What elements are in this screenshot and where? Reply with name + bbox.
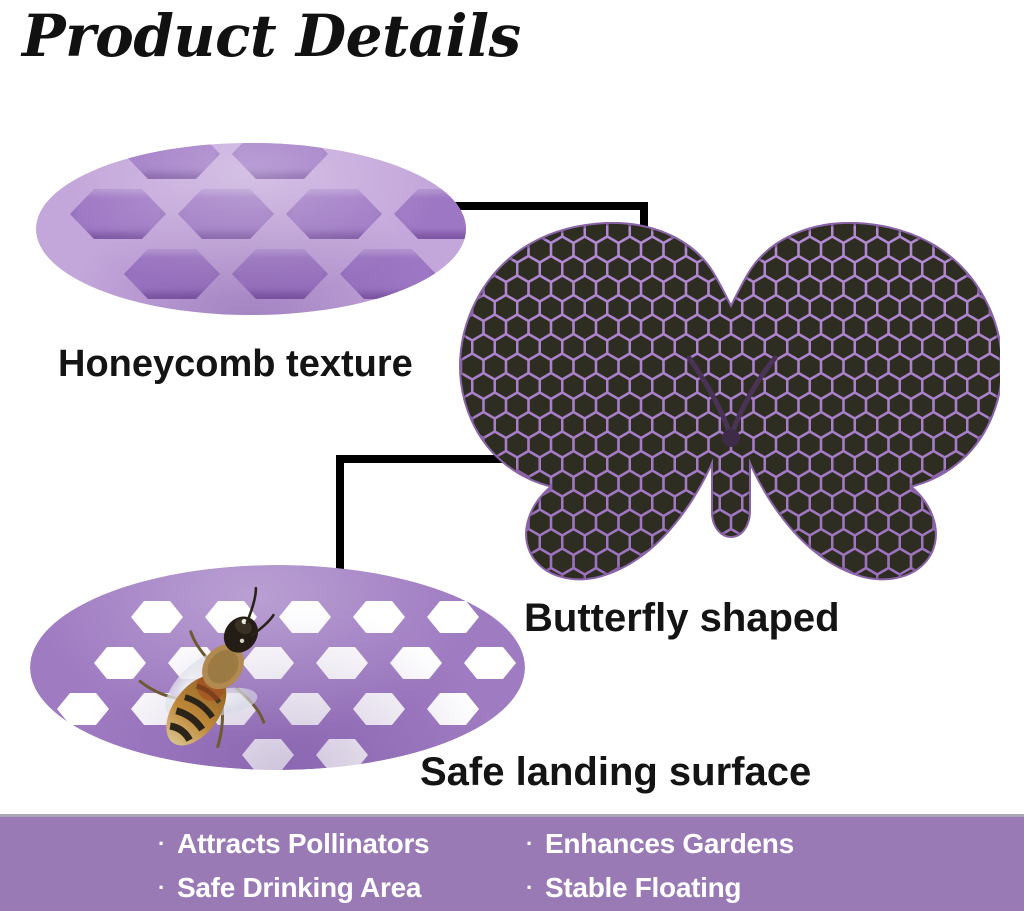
butterfly-perforation (732, 238, 752, 261)
butterfly-perforation (789, 570, 809, 585)
landing-surface-hole (57, 693, 109, 725)
landing-surface-hole (427, 693, 479, 725)
honeycomb-cell (232, 143, 328, 179)
butterfly-perforation (991, 531, 1000, 554)
bullet-icon: · (526, 877, 533, 899)
butterfly-perforation (699, 570, 719, 585)
benefits-banner: · Attracts Pollinators · Enhances Garden… (0, 814, 1024, 911)
butterfly-perforation (969, 492, 989, 515)
landing-surface-hole (279, 601, 331, 633)
butterfly-perforation (676, 531, 696, 554)
bullet-icon: · (158, 877, 165, 899)
butterfly-perforation (755, 550, 775, 573)
butterfly-perforation (721, 570, 741, 585)
butterfly-perforation (462, 238, 482, 261)
feature-label-safe-landing-surface: Safe landing surface (420, 750, 811, 795)
butterfly-perforation (676, 570, 696, 585)
butterfly-perforation (631, 570, 651, 585)
butterfly-perforation (455, 453, 471, 476)
butterfly-perforation (924, 222, 944, 242)
butterfly-perforation (455, 550, 460, 573)
butterfly-perforation (474, 222, 494, 242)
honeycomb-cell (232, 249, 328, 299)
butterfly-perforation (462, 472, 482, 495)
benefit-label: Attracts Pollinators (177, 822, 429, 866)
butterfly-perforation (455, 492, 471, 515)
page-title: Product Details (22, 2, 521, 70)
butterfly-perforation (755, 511, 775, 534)
benefit-item: · Attracts Pollinators (158, 822, 526, 866)
benefit-item: · Stable Floating (526, 866, 894, 910)
butterfly-perforation (946, 222, 966, 242)
butterfly-perforation (496, 222, 516, 242)
landing-surface-hole (390, 647, 442, 679)
benefit-item: · Safe Drinking Area (158, 866, 526, 910)
butterfly-perforation (946, 570, 966, 585)
butterfly-perforation (474, 570, 494, 585)
butterfly-perforation (732, 550, 752, 573)
honeycomb-cell (124, 249, 220, 299)
butterfly-perforation (710, 238, 730, 261)
butterfly-perforation (744, 222, 764, 242)
butterfly-perforation (969, 453, 989, 476)
butterfly-perforation (710, 550, 730, 573)
butterfly-perforation (957, 238, 977, 261)
honeycomb-cell (340, 249, 436, 299)
butterfly-perforation (485, 238, 505, 261)
butterfly-perforation (969, 222, 989, 242)
butterfly-perforation (519, 570, 539, 585)
butterfly-perforation (455, 355, 460, 378)
butterfly-perforation (455, 531, 471, 554)
elbow-connector-line-horizontal (455, 202, 648, 210)
butterfly-perforation (957, 472, 977, 495)
butterfly-perforation (462, 550, 482, 573)
feature-label-honeycomb-texture: Honeycomb texture (58, 343, 413, 386)
butterfly-perforation (744, 570, 764, 585)
landing-surface-hole (353, 601, 405, 633)
butterfly-perforation (957, 511, 977, 534)
butterfly-perforation (496, 492, 516, 515)
butterfly-perforation (462, 511, 482, 534)
butterfly-perforation (455, 511, 460, 534)
butterfly-perforation (455, 258, 471, 281)
landing-surface-hole (353, 693, 405, 725)
landing-surface-hole (427, 601, 479, 633)
butterfly-perforation (991, 222, 1000, 242)
butterfly-perforation (991, 453, 1000, 476)
butterfly-perforation (455, 316, 460, 339)
butterfly-perforation (455, 222, 471, 242)
butterfly-perforation (699, 222, 719, 242)
butterfly-perforation (455, 472, 460, 495)
butterfly-perforation (991, 258, 1000, 281)
butterfly-perforation (507, 511, 527, 534)
butterfly-perforation (811, 570, 831, 585)
benefit-label: Enhances Gardens (545, 822, 794, 866)
butterfly-pad-image (455, 222, 1000, 584)
butterfly-perforation (654, 570, 674, 585)
butterfly-perforation (474, 531, 494, 554)
butterfly-perforation (474, 492, 494, 515)
benefit-item: · Enhances Gardens (526, 822, 894, 866)
butterfly-perforation (935, 550, 955, 573)
butterfly-perforation (474, 453, 494, 476)
butterfly-perforation (485, 472, 505, 495)
butterfly-perforation (507, 550, 527, 573)
butterfly-perforation (665, 550, 685, 573)
butterfly-perforation (777, 550, 797, 573)
butterfly-perforation (969, 570, 989, 585)
landing-surface-hole (316, 739, 368, 770)
butterfly-perforation (485, 511, 505, 534)
butterfly-perforation (969, 531, 989, 554)
bullet-icon: · (526, 833, 533, 855)
butterfly-perforation (687, 511, 707, 534)
butterfly-perforation (455, 394, 460, 417)
butterfly-perforation (991, 570, 1000, 585)
butterfly-perforation (980, 550, 1000, 573)
butterfly-perforation (687, 550, 707, 573)
benefit-label: Safe Drinking Area (177, 866, 421, 910)
butterfly-perforation (455, 414, 471, 437)
butterfly-perforation (721, 222, 741, 242)
butterfly-perforation (924, 570, 944, 585)
butterfly-perforation (957, 550, 977, 573)
butterfly-perforation (980, 238, 1000, 261)
butterfly-perforation (485, 550, 505, 573)
honeycomb-texture-image (36, 143, 466, 315)
butterfly-perforation (496, 531, 516, 554)
butterfly-perforation (935, 511, 955, 534)
bullet-icon: · (158, 833, 165, 855)
butterfly-perforation (766, 570, 786, 585)
benefit-label: Stable Floating (545, 866, 741, 910)
butterfly-perforation (980, 511, 1000, 534)
honeycomb-cell (124, 143, 220, 179)
elbow-connector-line-vertical (336, 455, 344, 577)
butterfly-perforation (980, 472, 1000, 495)
butterfly-perforation (946, 492, 966, 515)
butterfly-perforation (946, 531, 966, 554)
butterfly-perforation (455, 238, 460, 261)
butterfly-perforation (766, 531, 786, 554)
butterfly-perforation (721, 258, 741, 281)
butterfly-perforation (455, 433, 460, 456)
landing-surface-hole (242, 739, 294, 770)
butterfly-perforation (519, 222, 539, 242)
butterfly-perforation (991, 492, 1000, 515)
honeycomb-cell (178, 189, 274, 239)
landing-surface-hole (464, 647, 516, 679)
butterfly-perforation (744, 531, 764, 554)
honeycomb-cell (286, 189, 382, 239)
honeycomb-cell (70, 189, 166, 239)
butterfly-perforation (455, 570, 471, 585)
butterfly-perforation (455, 277, 460, 300)
butterfly-perforation (699, 531, 719, 554)
landing-surface-hole (316, 647, 368, 679)
feature-label-butterfly-shaped: Butterfly shaped (524, 596, 840, 641)
butterfly-perforation (496, 570, 516, 585)
